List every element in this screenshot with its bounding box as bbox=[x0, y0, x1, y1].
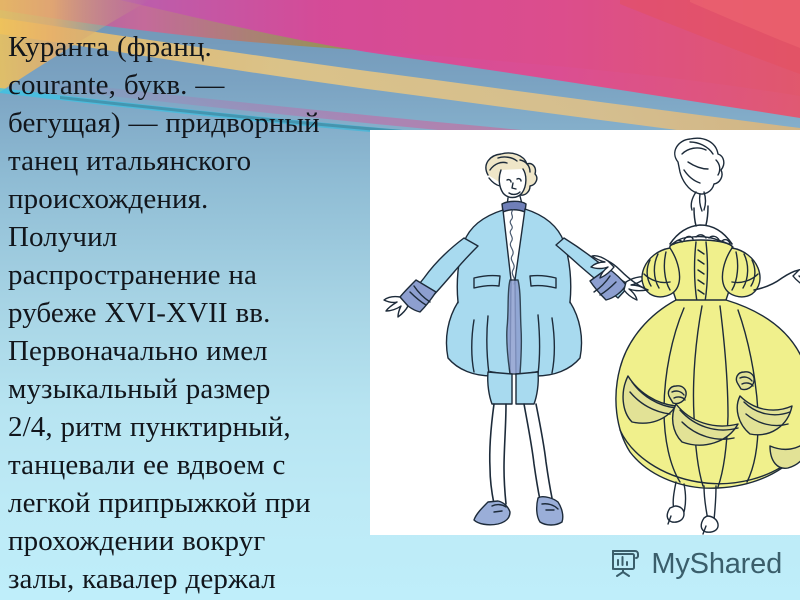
courante-dancers-illustration bbox=[370, 130, 800, 535]
paragraph-line: танец итальянского bbox=[8, 142, 364, 180]
presentation-board-icon bbox=[609, 547, 643, 582]
paragraph-line: 2/4, ритм пунктирный, bbox=[8, 408, 364, 446]
myshared-watermark: MyShared bbox=[609, 547, 782, 582]
paragraph-line: прохождении вокруг bbox=[8, 522, 364, 560]
presentation-slide: Куранта (франц. courante, букв. — бегуща… bbox=[0, 0, 800, 600]
paragraph-line: происхождения. bbox=[8, 180, 364, 218]
paragraph-line: Получил bbox=[8, 218, 364, 256]
paragraph-line: courante, букв. — bbox=[8, 66, 364, 104]
paragraph-line: Первоначально имел bbox=[8, 332, 364, 370]
paragraph-line: легкой припрыжкой при bbox=[8, 484, 364, 522]
paragraph-line: распространение на bbox=[8, 256, 364, 294]
paragraph-line: бегущая) — придворный bbox=[8, 104, 364, 142]
paragraph-line: залы, кавалер держал bbox=[8, 560, 364, 598]
myshared-label: MyShared bbox=[651, 550, 782, 579]
paragraph-line: рубеже XVI-XVII вв. bbox=[8, 294, 364, 332]
paragraph-line: танцевали ее вдвоем с bbox=[8, 446, 364, 484]
paragraph-line: музыкальный размер bbox=[8, 370, 364, 408]
paragraph-line: Куранта (франц. bbox=[8, 28, 364, 66]
slide-body-text: Куранта (франц. courante, букв. — бегуща… bbox=[8, 28, 364, 600]
